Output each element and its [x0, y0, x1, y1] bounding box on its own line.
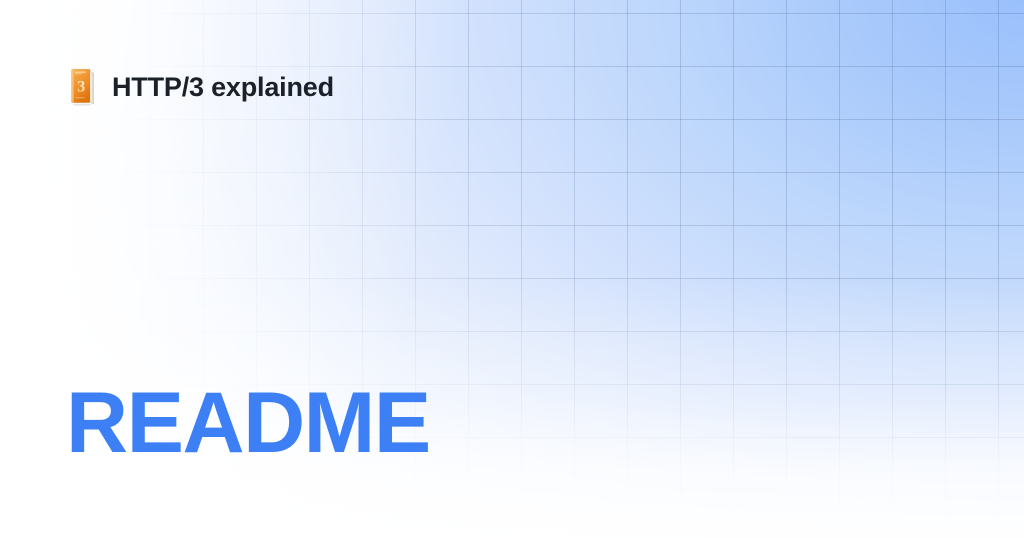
repository-title: HTTP/3 explained: [112, 74, 334, 101]
repository-header: 3 HTTP/3 explained: [70, 68, 334, 106]
page-title: README: [66, 380, 430, 466]
card-content: 3 HTTP/3 explained README: [0, 0, 1024, 538]
svg-text:3: 3: [77, 79, 85, 96]
social-preview-card: 3 HTTP/3 explained README: [0, 0, 1024, 538]
book-icon: 3: [70, 68, 96, 106]
